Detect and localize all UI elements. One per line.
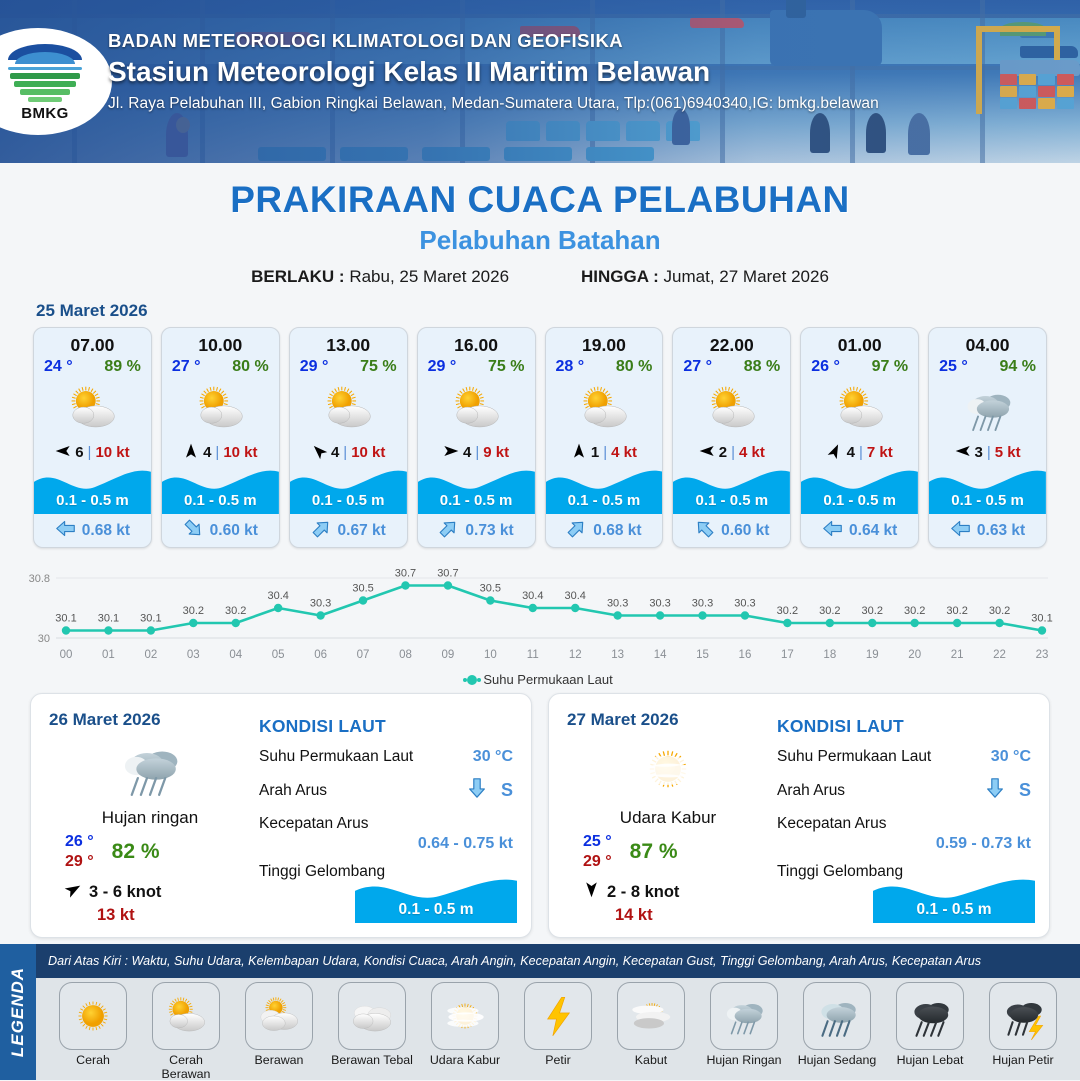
page-title: PRAKIRAAN CUACA PELABUHAN xyxy=(0,179,1080,221)
card-current: 0.68 kt xyxy=(34,514,151,547)
card-wind: 4 | 10 kt xyxy=(162,440,279,466)
legend-item: Hujan Petir xyxy=(980,982,1066,1080)
current-direction-value: S xyxy=(1019,780,1031,801)
valid-until-value: Jumat, 27 Maret 2026 xyxy=(664,267,829,286)
card-wave: 0.1 - 0.5 m xyxy=(673,466,790,514)
forecast-card: 19.00 28 ° 80 % 1 | 4 kt xyxy=(545,327,664,548)
wind-direction-arrow-icon xyxy=(699,443,715,462)
panel-date: 26 Maret 2026 xyxy=(49,710,251,730)
title-block: PRAKIRAAN CUACA PELABUHAN Pelabuhan Bata… xyxy=(0,179,1080,287)
svg-text:12: 12 xyxy=(569,649,582,661)
chart-legend: Suhu Permukaan Laut xyxy=(0,672,1080,687)
panel-humidity: 82 % xyxy=(112,840,160,864)
card-wave: 0.1 - 0.5 m xyxy=(801,466,918,514)
legend-item: Hujan Ringan xyxy=(701,982,787,1080)
current-direction-value: S xyxy=(501,780,513,801)
wind-direction-arrow-icon xyxy=(443,443,459,462)
svg-text:30.1: 30.1 xyxy=(98,613,119,625)
card-temperature: 29 ° xyxy=(428,358,457,376)
chart-legend-label: Suhu Permukaan Laut xyxy=(483,672,612,687)
cerah-berawan-icon xyxy=(162,378,279,440)
page-subtitle: Pelabuhan Batahan xyxy=(0,225,1080,256)
forecast-day-label: 25 Maret 2026 xyxy=(36,301,1080,321)
legend-item-label: Berawan Tebal xyxy=(329,1053,415,1067)
svg-text:30.3: 30.3 xyxy=(692,598,713,610)
card-current: 0.67 kt xyxy=(290,514,407,547)
cerah-berawan-icon xyxy=(673,378,790,440)
hujan-lebat-icon xyxy=(896,982,964,1050)
svg-text:16: 16 xyxy=(739,649,752,661)
sst-value: 30 °C xyxy=(473,748,513,766)
current-direction-arrow-icon xyxy=(438,518,459,544)
svg-text:30.7: 30.7 xyxy=(395,568,416,580)
card-time: 04.00 xyxy=(929,328,1046,358)
legend-item-label: Hujan Petir xyxy=(980,1053,1066,1067)
svg-text:19: 19 xyxy=(866,649,879,661)
legend-item-list: Cerah Cerah Berawan xyxy=(36,982,1080,1080)
card-wave-height: 0.1 - 0.5 m xyxy=(673,492,790,509)
panel-current-direction-arrow-icon xyxy=(466,777,488,804)
panel-humidity: 87 % xyxy=(630,840,678,864)
card-current-speed: 0.68 kt xyxy=(593,522,641,540)
card-wind-separator: | xyxy=(343,444,347,461)
svg-text:30.2: 30.2 xyxy=(904,605,925,617)
svg-text:11: 11 xyxy=(527,649,539,661)
svg-text:30: 30 xyxy=(38,633,50,645)
panel-wind-direction-arrow-icon xyxy=(65,881,82,903)
cerah-berawan-icon xyxy=(801,378,918,440)
cerah-berawan-icon xyxy=(34,378,151,440)
sst-label: Suhu Permukaan Laut xyxy=(777,748,931,766)
current-direction-label: Arah Arus xyxy=(777,782,845,800)
forecast-card: 04.00 25 ° 94 % 3 | xyxy=(928,327,1047,548)
card-wind: 4 | 10 kt xyxy=(290,440,407,466)
sea-condition-title: KONDISI LAUT xyxy=(777,716,1031,737)
legend-side-title-text: LEGENDA xyxy=(8,967,28,1057)
legend-item: Berawan xyxy=(236,982,322,1080)
card-wave-height: 0.1 - 0.5 m xyxy=(162,492,279,509)
card-gust: 4 kt xyxy=(739,444,765,461)
panel-wind-range: 3 - 6 knot xyxy=(89,883,161,902)
current-speed-label: Kecepatan Arus xyxy=(259,815,368,832)
current-direction-arrow-icon xyxy=(694,518,715,544)
card-humidity: 97 % xyxy=(872,358,908,376)
card-wind-speed: 1 xyxy=(591,444,599,461)
cerah-berawan-icon xyxy=(546,378,663,440)
card-current-speed: 0.67 kt xyxy=(338,522,386,540)
card-wind: 3 | 5 kt xyxy=(929,440,1046,466)
bmkg-logo-mark xyxy=(8,42,82,104)
card-time: 16.00 xyxy=(418,328,535,358)
card-wave: 0.1 - 0.5 m xyxy=(418,466,535,514)
current-direction-arrow-icon xyxy=(55,518,76,544)
card-wind: 4 | 7 kt xyxy=(801,440,918,466)
card-wind-speed: 2 xyxy=(719,444,727,461)
legend-note: Dari Atas Kiri : Waktu, Suhu Udara, Kele… xyxy=(36,954,981,968)
legend-item: Cerah Berawan xyxy=(143,982,229,1080)
svg-text:30.8: 30.8 xyxy=(29,573,50,585)
panel-condition: Udara Kabur xyxy=(567,808,769,828)
valid-until-label: HINGGA : xyxy=(581,267,659,286)
wind-direction-arrow-icon xyxy=(311,443,327,462)
svg-text:30.1: 30.1 xyxy=(1031,613,1052,625)
card-wave-height: 0.1 - 0.5 m xyxy=(34,492,151,509)
cerah-berawan-icon xyxy=(418,378,535,440)
svg-text:10: 10 xyxy=(484,649,497,661)
svg-text:30.2: 30.2 xyxy=(777,605,798,617)
card-gust: 5 kt xyxy=(995,444,1021,461)
legend-item: Berawan Tebal xyxy=(329,982,415,1080)
card-current: 0.64 kt xyxy=(801,514,918,547)
card-temperature: 26 ° xyxy=(811,358,840,376)
station-address: Jl. Raya Pelabuhan III, Gabion Ringkai B… xyxy=(108,95,879,113)
legend-section: LEGENDA Dari Atas Kiri : Waktu, Suhu Uda… xyxy=(0,944,1080,1080)
hujan-petir-icon xyxy=(989,982,1057,1050)
svg-text:22: 22 xyxy=(993,649,1006,661)
card-wave: 0.1 - 0.5 m xyxy=(929,466,1046,514)
svg-text:30.2: 30.2 xyxy=(862,605,883,617)
card-wave-height: 0.1 - 0.5 m xyxy=(546,492,663,509)
svg-text:30.5: 30.5 xyxy=(480,583,501,595)
card-wind: 6 | 10 kt xyxy=(34,440,151,466)
sst-value: 30 °C xyxy=(991,748,1031,766)
panel-gust: 13 kt xyxy=(49,906,251,925)
card-wind-separator: | xyxy=(475,444,479,461)
svg-text:06: 06 xyxy=(314,649,327,661)
wind-direction-arrow-icon xyxy=(955,443,971,462)
card-wave: 0.1 - 0.5 m xyxy=(34,466,151,514)
svg-text:15: 15 xyxy=(696,649,709,661)
card-wind-separator: | xyxy=(603,444,607,461)
petir-icon xyxy=(524,982,592,1050)
current-speed-label: Kecepatan Arus xyxy=(777,815,886,832)
card-humidity: 80 % xyxy=(232,358,268,376)
valid-from: BERLAKU : Rabu, 25 Maret 2026 xyxy=(251,267,509,287)
sst-label: Suhu Permukaan Laut xyxy=(259,748,413,766)
svg-text:23: 23 xyxy=(1036,649,1049,661)
card-gust: 10 kt xyxy=(351,444,385,461)
wind-direction-arrow-icon xyxy=(827,443,843,462)
legend-item-label: Petir xyxy=(515,1053,601,1067)
svg-text:18: 18 xyxy=(823,649,836,661)
forecast-card: 01.00 26 ° 97 % 4 | 7 kt xyxy=(800,327,919,548)
current-direction-arrow-icon xyxy=(183,518,204,544)
card-current: 0.68 kt xyxy=(546,514,663,547)
daily-forecast-panel: 27 Maret 2026 Udara Kabur 25 ° 29 ° 8 xyxy=(548,693,1050,938)
svg-text:30.2: 30.2 xyxy=(946,605,967,617)
card-time: 07.00 xyxy=(34,328,151,358)
panel-temp-min: 26 ° xyxy=(65,832,94,852)
card-current-speed: 0.68 kt xyxy=(82,522,130,540)
legend-item: Hujan Sedang xyxy=(794,982,880,1080)
legend-item-label: Kabut xyxy=(608,1053,694,1067)
legend-item: Kabut xyxy=(608,982,694,1080)
svg-text:30.2: 30.2 xyxy=(183,605,204,617)
svg-text:09: 09 xyxy=(442,649,455,661)
panel-temp-min: 25 ° xyxy=(583,832,612,852)
forecast-card: 10.00 27 ° 80 % 4 | 10 kt xyxy=(161,327,280,548)
card-wave-height: 0.1 - 0.5 m xyxy=(418,492,535,509)
card-temperature: 27 ° xyxy=(172,358,201,376)
card-current: 0.73 kt xyxy=(418,514,535,547)
card-humidity: 89 % xyxy=(104,358,140,376)
legend-item-label: Hujan Lebat xyxy=(887,1053,973,1067)
legend-item-label: Berawan xyxy=(236,1053,322,1067)
card-wind-speed: 3 xyxy=(975,444,983,461)
svg-text:30.3: 30.3 xyxy=(607,598,628,610)
card-current-speed: 0.60 kt xyxy=(210,522,258,540)
svg-text:30.5: 30.5 xyxy=(352,583,373,595)
legend-side-title: LEGENDA xyxy=(0,944,36,1080)
udara-kabur-icon xyxy=(431,982,499,1050)
svg-text:00: 00 xyxy=(60,649,73,661)
card-wind: 1 | 4 kt xyxy=(546,440,663,466)
svg-text:03: 03 xyxy=(187,649,200,661)
sst-chart-svg: 30.83030.10030.10130.10230.20330.20430.4… xyxy=(0,560,1080,668)
panel-wave: 0.1 - 0.5 m xyxy=(355,875,517,923)
card-wave: 0.1 - 0.5 m xyxy=(290,466,407,514)
sea-condition-title: KONDISI LAUT xyxy=(259,716,513,737)
panel-gust: 14 kt xyxy=(567,906,769,925)
hujan-sedang-icon xyxy=(803,982,871,1050)
card-wind: 4 | 9 kt xyxy=(418,440,535,466)
svg-text:30.4: 30.4 xyxy=(522,590,543,602)
card-current-speed: 0.60 kt xyxy=(721,522,769,540)
current-speed-value: 0.59 - 0.73 kt xyxy=(777,835,1031,853)
svg-text:08: 08 xyxy=(399,649,412,661)
chart-legend-marker xyxy=(467,675,477,685)
card-humidity: 75 % xyxy=(360,358,396,376)
card-temperature: 29 ° xyxy=(300,358,329,376)
svg-text:20: 20 xyxy=(908,649,921,661)
panel-wind-direction-arrow-icon xyxy=(583,881,600,903)
card-wind: 2 | 4 kt xyxy=(673,440,790,466)
card-time: 01.00 xyxy=(801,328,918,358)
panel-temp-max: 29 ° xyxy=(65,852,94,872)
card-gust: 7 kt xyxy=(867,444,893,461)
daily-forecast-panel: 26 Maret 2026 Hujan ringan 26 ° xyxy=(30,693,532,938)
forecast-card: 07.00 24 ° 89 % 6 | 10 kt xyxy=(33,327,152,548)
svg-text:04: 04 xyxy=(229,649,242,661)
udara-kabur-icon xyxy=(567,732,769,806)
card-current-speed: 0.63 kt xyxy=(977,522,1025,540)
card-gust: 10 kt xyxy=(223,444,257,461)
valid-from-label: BERLAKU : xyxy=(251,267,345,286)
berawan-icon xyxy=(245,982,313,1050)
card-gust: 10 kt xyxy=(95,444,129,461)
svg-text:30.2: 30.2 xyxy=(225,605,246,617)
svg-text:30.3: 30.3 xyxy=(649,598,670,610)
forecast-card: 22.00 27 ° 88 % 2 | 4 kt xyxy=(672,327,791,548)
card-current-speed: 0.64 kt xyxy=(849,522,897,540)
svg-text:02: 02 xyxy=(144,649,157,661)
card-temperature: 25 ° xyxy=(939,358,968,376)
legend-item: Petir xyxy=(515,982,601,1080)
card-temperature: 24 ° xyxy=(44,358,73,376)
card-wind-speed: 4 xyxy=(331,444,339,461)
svg-text:13: 13 xyxy=(611,649,624,661)
card-wind-separator: | xyxy=(215,444,219,461)
svg-text:30.3: 30.3 xyxy=(734,598,755,610)
sst-chart: 30.83030.10030.10130.10230.20330.20430.4… xyxy=(0,560,1080,670)
forecast-card: 13.00 29 ° 75 % 4 | 10 kt xyxy=(289,327,408,548)
card-current: 0.60 kt xyxy=(162,514,279,547)
station-name: Stasiun Meteorologi Kelas II Maritim Bel… xyxy=(108,56,879,88)
svg-text:14: 14 xyxy=(654,649,667,661)
current-direction-label: Arah Arus xyxy=(259,782,327,800)
card-wave-height: 0.1 - 0.5 m xyxy=(290,492,407,509)
wind-direction-arrow-icon xyxy=(571,443,587,462)
legend-item-label: Hujan Ringan xyxy=(701,1053,787,1067)
svg-text:17: 17 xyxy=(781,649,794,661)
cerah-berawan-icon xyxy=(290,378,407,440)
card-temperature: 27 ° xyxy=(683,358,712,376)
hujan-ringan-icon xyxy=(49,732,251,806)
cerah-icon xyxy=(59,982,127,1050)
svg-text:30.4: 30.4 xyxy=(267,590,288,602)
card-gust: 9 kt xyxy=(483,444,509,461)
svg-text:30.2: 30.2 xyxy=(989,605,1010,617)
card-humidity: 80 % xyxy=(616,358,652,376)
svg-text:30.1: 30.1 xyxy=(55,613,76,625)
hujan-ringan-icon xyxy=(710,982,778,1050)
berawan-tebal-icon xyxy=(338,982,406,1050)
agency-name: BADAN METEOROLOGI KLIMATOLOGI DAN GEOFIS… xyxy=(108,30,879,52)
forecast-card: 16.00 29 ° 75 % 4 | 9 kt xyxy=(417,327,536,548)
card-gust: 4 kt xyxy=(611,444,637,461)
svg-text:07: 07 xyxy=(357,649,370,661)
cerah-berawan-icon xyxy=(152,982,220,1050)
panel-condition: Hujan ringan xyxy=(49,808,251,828)
legend-note-strip: Dari Atas Kiri : Waktu, Suhu Udara, Kele… xyxy=(36,944,1080,978)
card-humidity: 94 % xyxy=(1000,358,1036,376)
card-wave-height: 0.1 - 0.5 m xyxy=(801,492,918,509)
card-temperature: 28 ° xyxy=(556,358,585,376)
current-direction-arrow-icon xyxy=(950,518,971,544)
svg-text:30.7: 30.7 xyxy=(437,568,458,580)
daily-panel-list: 26 Maret 2026 Hujan ringan 26 ° xyxy=(0,687,1080,938)
svg-text:05: 05 xyxy=(272,649,285,661)
panel-date: 27 Maret 2026 xyxy=(567,710,769,730)
card-wind-separator: | xyxy=(88,444,92,461)
current-direction-arrow-icon xyxy=(311,518,332,544)
legend-item: Hujan Lebat xyxy=(887,982,973,1080)
card-humidity: 75 % xyxy=(488,358,524,376)
legend-item-label: Hujan Sedang xyxy=(794,1053,880,1067)
wind-direction-arrow-icon xyxy=(183,443,199,462)
current-direction-arrow-icon xyxy=(566,518,587,544)
card-time: 22.00 xyxy=(673,328,790,358)
card-wind-speed: 6 xyxy=(75,444,83,461)
bmkg-logo-text: BMKG xyxy=(21,105,68,122)
wind-direction-arrow-icon xyxy=(55,443,71,462)
current-direction-arrow-icon xyxy=(822,518,843,544)
card-wave: 0.1 - 0.5 m xyxy=(546,466,663,514)
panel-wind-range: 2 - 8 knot xyxy=(607,883,679,902)
forecast-card-list: 07.00 24 ° 89 % 6 | 10 kt xyxy=(0,327,1080,548)
card-wind-separator: | xyxy=(859,444,863,461)
legend-item-label: Cerah xyxy=(50,1053,136,1067)
card-wave-height: 0.1 - 0.5 m xyxy=(929,492,1046,509)
legend-item: Udara Kabur xyxy=(422,982,508,1080)
valid-from-value: Rabu, 25 Maret 2026 xyxy=(349,267,509,286)
card-wind-speed: 4 xyxy=(847,444,855,461)
card-time: 10.00 xyxy=(162,328,279,358)
legend-item-label: Cerah Berawan xyxy=(143,1053,229,1081)
hujan-ringan-icon xyxy=(929,378,1046,440)
card-wave: 0.1 - 0.5 m xyxy=(162,466,279,514)
card-time: 19.00 xyxy=(546,328,663,358)
card-current: 0.63 kt xyxy=(929,514,1046,547)
card-wind-speed: 4 xyxy=(463,444,471,461)
panel-current-direction-arrow-icon xyxy=(984,777,1006,804)
card-wind-separator: | xyxy=(987,444,991,461)
legend-item-label: Udara Kabur xyxy=(422,1053,508,1067)
card-humidity: 88 % xyxy=(744,358,780,376)
card-wind-speed: 4 xyxy=(203,444,211,461)
current-speed-value: 0.64 - 0.75 kt xyxy=(259,835,513,853)
legend-item: Cerah xyxy=(50,982,136,1080)
svg-text:30.1: 30.1 xyxy=(140,613,161,625)
svg-text:30.3: 30.3 xyxy=(310,598,331,610)
kabut-icon xyxy=(617,982,685,1050)
validity-row: BERLAKU : Rabu, 25 Maret 2026 HINGGA : J… xyxy=(0,267,1080,287)
svg-text:30.2: 30.2 xyxy=(819,605,840,617)
panel-wave-height: 0.1 - 0.5 m xyxy=(355,901,517,919)
panel-wave: 0.1 - 0.5 m xyxy=(873,875,1035,923)
panel-wave-height: 0.1 - 0.5 m xyxy=(873,901,1035,919)
page-header: BMKG BADAN METEOROLOGI KLIMATOLOGI DAN G… xyxy=(0,0,1080,163)
svg-text:01: 01 xyxy=(102,649,115,661)
panel-temp-max: 29 ° xyxy=(583,852,612,872)
card-time: 13.00 xyxy=(290,328,407,358)
svg-text:30.4: 30.4 xyxy=(565,590,586,602)
card-current: 0.60 kt xyxy=(673,514,790,547)
card-current-speed: 0.73 kt xyxy=(465,522,513,540)
valid-until: HINGGA : Jumat, 27 Maret 2026 xyxy=(581,267,829,287)
svg-text:21: 21 xyxy=(951,649,964,661)
card-wind-separator: | xyxy=(731,444,735,461)
